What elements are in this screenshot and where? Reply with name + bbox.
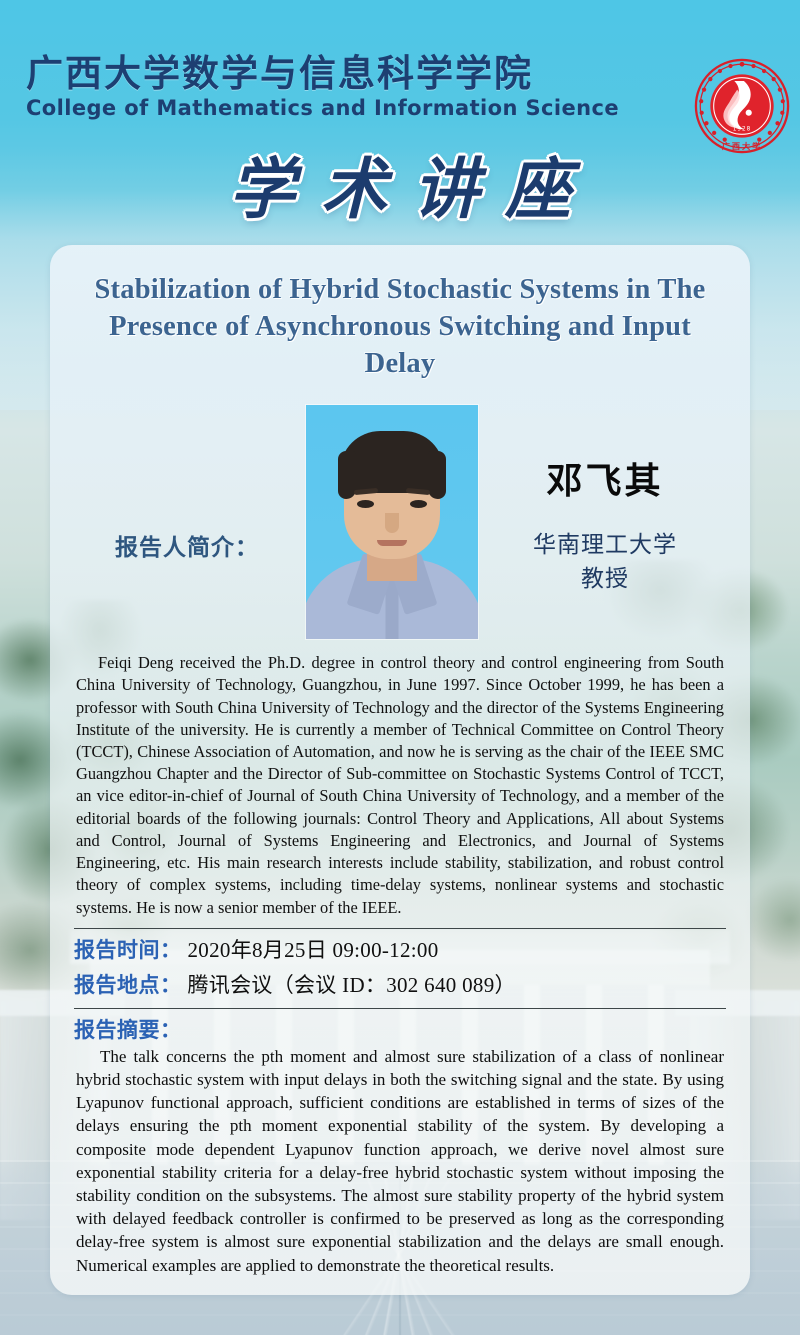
university-identity: 广西大学数学与信息科学学院 College of Mathematics and… — [26, 55, 619, 120]
speaker-affiliation-org: 华南理工大学 — [482, 529, 728, 562]
banner-title: 学术讲座 — [0, 152, 800, 228]
divider-above-info — [74, 928, 726, 929]
poster-header: 广西大学数学与信息科学学院 College of Mathematics and… — [0, 0, 800, 150]
portrait-nose — [385, 513, 399, 533]
speaker-section-label: 报告人简介： — [115, 528, 259, 562]
talk-title: Stabilization of Hybrid Stochastic Syste… — [72, 271, 728, 382]
lecture-time-row: 报告时间： 2020年8月25日 09:00-12:00 — [72, 934, 728, 964]
abstract-label: 报告摘要： — [72, 1014, 728, 1044]
speaker-rank: 教授 — [482, 563, 728, 596]
poster-card: Stabilization of Hybrid Stochastic Syste… — [50, 245, 750, 1295]
svg-text:广西大学: 广西大学 — [722, 141, 762, 151]
speaker-name: 邓飞其 — [482, 460, 728, 503]
lecture-place-value: 腾讯会议（会议 ID：302 640 089） — [188, 969, 516, 999]
university-name-en: College of Mathematics and Information S… — [26, 96, 619, 120]
lecture-place-label: 报告地点： — [74, 969, 182, 999]
university-name-cn: 广西大学数学与信息科学学院 — [26, 55, 619, 92]
speaker-section: 报告人简介： — [72, 402, 728, 642]
lecture-time-label: 报告时间： — [74, 934, 182, 964]
lecture-time-value: 2020年8月25日 09:00-12:00 — [188, 934, 439, 964]
speaker-portrait-photo — [306, 405, 478, 639]
speaker-label-column: 报告人简介： — [72, 482, 302, 562]
svg-text:1928: 1928 — [733, 126, 751, 132]
abstract-text: The talk concerns the pth moment and alm… — [72, 1045, 728, 1277]
speaker-name-column: 邓飞其 华南理工大学 教授 — [482, 448, 728, 596]
portrait-hair-right — [428, 451, 446, 499]
speaker-affiliation: 华南理工大学 教授 — [482, 529, 728, 596]
speaker-photo-column — [302, 405, 482, 639]
lecture-poster: 广西大学数学与信息科学学院 College of Mathematics and… — [0, 0, 800, 1335]
portrait-mouth — [377, 540, 407, 546]
speaker-biography: Feiqi Deng received the Ph.D. degree in … — [72, 652, 728, 919]
university-seal-icon: 1928 广西大学 — [694, 58, 790, 154]
divider-below-info — [74, 1008, 726, 1009]
lecture-place-row: 报告地点： 腾讯会议（会议 ID：302 640 089） — [72, 969, 728, 999]
